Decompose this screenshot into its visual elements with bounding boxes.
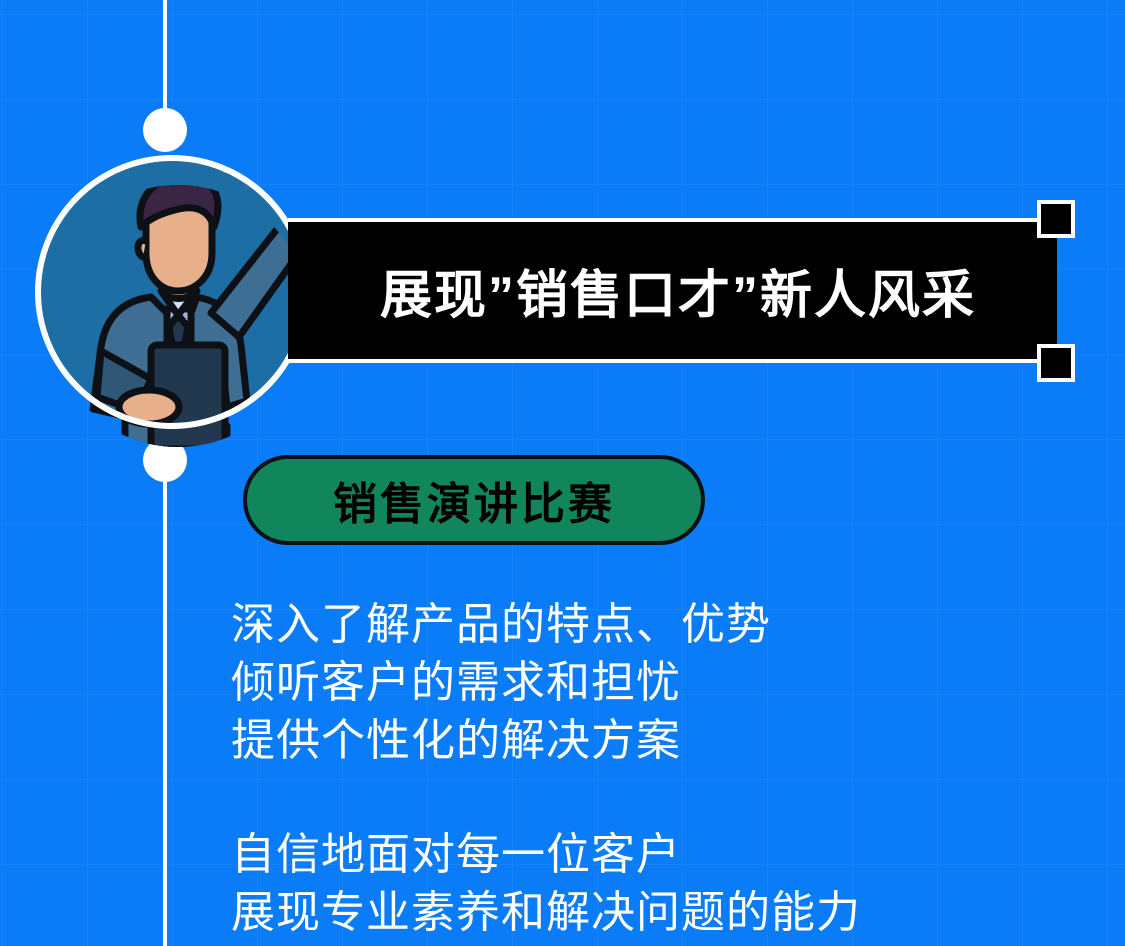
body-copy: 深入了解产品的特点、优势 倾听客户的需求和担忧 提供个性化的解决方案 自信地面对… (231, 596, 1091, 942)
corner-marker-top-right (1037, 200, 1075, 238)
event-badge-label: 销售演讲比赛 (333, 468, 615, 532)
copy-line: 自信地面对每一位客户 (231, 826, 1091, 884)
rail-line-bottom (163, 470, 167, 946)
poster-canvas: 展现”销售口才”新人风采 销售演讲比赛 深入了解产品的特点、优势 倾听客户的需求… (0, 0, 1125, 946)
copy-line: 深入了解产品的特点、优势 (231, 596, 1091, 654)
copy-line: 展现专业素养和解决问题的能力 (231, 884, 1091, 942)
poster-title-band: 展现”销售口才”新人风采 (288, 218, 1056, 363)
copy-spacer (231, 770, 1091, 826)
illustration-businessman-pointing-up (35, 155, 309, 429)
corner-marker-bottom-right (1037, 344, 1075, 382)
event-badge: 销售演讲比赛 (243, 455, 705, 545)
illustration-circle-ring (35, 155, 309, 429)
copy-line: 倾听客户的需求和担忧 (231, 654, 1091, 712)
corner-connector-line (1054, 230, 1057, 352)
page-title: 展现”销售口才”新人风采 (380, 253, 976, 328)
copy-block-one: 深入了解产品的特点、优势 倾听客户的需求和担忧 提供个性化的解决方案 (231, 596, 1091, 770)
copy-block-two: 自信地面对每一位客户 展现专业素养和解决问题的能力 (231, 826, 1091, 942)
copy-line: 提供个性化的解决方案 (231, 712, 1091, 770)
